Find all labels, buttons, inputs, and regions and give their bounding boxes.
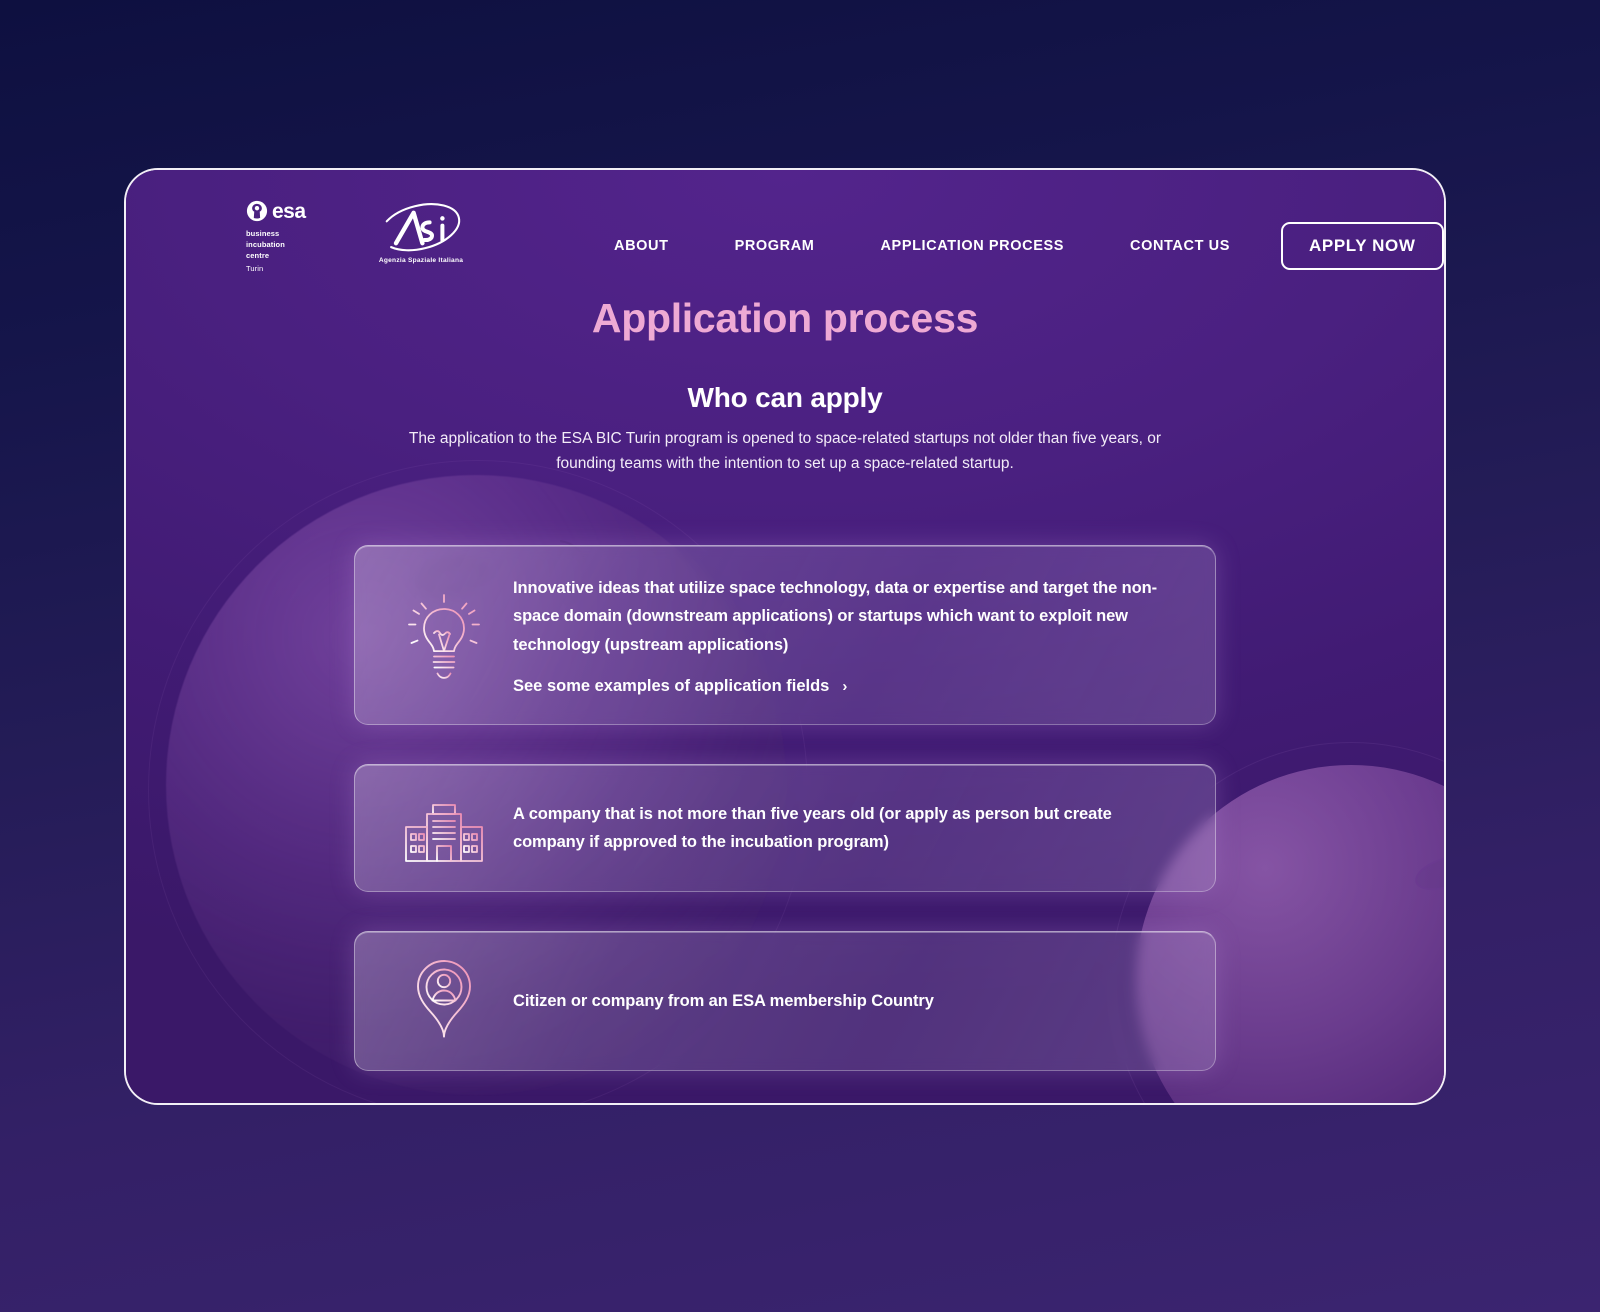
chevron-right-icon: › — [842, 679, 847, 694]
nav-item-program[interactable]: PROGRAM — [702, 238, 848, 254]
intro-paragraph: The application to the ESA BIC Turin pro… — [380, 426, 1190, 476]
site-header: esa business incubation centre Turin — [126, 170, 1444, 300]
esa-bic-logo[interactable]: esa business incubation centre Turin — [246, 200, 322, 275]
nav-item-contact-us[interactable]: CONTACT US — [1097, 238, 1263, 254]
page-background: esa business incubation centre Turin — [126, 170, 1444, 1103]
eligibility-card-innovative-ideas[interactable]: Innovative ideas that utilize space tech… — [354, 545, 1216, 725]
esa-globe-icon — [246, 200, 268, 222]
section-title: Who can apply — [126, 382, 1444, 414]
card-body: Citizen or company from an ESA membershi… — [503, 987, 1185, 1015]
apply-now-button[interactable]: APPLY NOW — [1281, 222, 1443, 270]
card-body: A company that is not more than five yea… — [503, 800, 1185, 857]
card-text: Innovative ideas that utilize space tech… — [513, 574, 1185, 659]
esa-wordmark: esa — [272, 201, 306, 222]
building-icon — [400, 791, 488, 865]
esa-sub-line-1: business — [246, 229, 279, 238]
asi-subtitle: Agenzia Spaziale Italiana — [372, 257, 470, 264]
card-link-label: See some examples of application fields — [513, 677, 829, 696]
nav-item-about[interactable]: ABOUT — [581, 238, 702, 254]
examples-of-application-fields-link[interactable]: See some examples of application fields … — [513, 677, 847, 696]
site-frame: esa business incubation centre Turin — [124, 168, 1446, 1105]
nav-item-application-process[interactable]: APPLICATION PROCESS — [847, 238, 1097, 254]
card-icon-wrap — [385, 791, 503, 865]
card-icon-wrap — [385, 589, 503, 681]
esa-sub-line-3: centre — [246, 251, 269, 260]
eligibility-card-esa-membership[interactable]: Citizen or company from an ESA membershi… — [354, 931, 1216, 1071]
location-person-icon — [411, 958, 477, 1044]
esa-subtitle: business incubation centre Turin — [246, 229, 322, 275]
esa-city: Turin — [246, 264, 322, 275]
eligibility-card-company-age[interactable]: A company that is not more than five yea… — [354, 764, 1216, 892]
asi-logo[interactable]: Agenzia Spaziale Italiana — [372, 200, 470, 264]
card-text: Citizen or company from an ESA membershi… — [513, 987, 1185, 1015]
card-icon-wrap — [385, 958, 503, 1044]
esa-sub-line-2: incubation — [246, 240, 285, 249]
page-title: Application process — [126, 295, 1444, 342]
asi-mark-icon — [372, 200, 468, 256]
card-text: A company that is not more than five yea… — [513, 800, 1185, 857]
main-navigation: ABOUT PROGRAM APPLICATION PROCESS CONTAC… — [581, 222, 1444, 270]
logo-group: esa business incubation centre Turin — [246, 200, 470, 275]
card-body: Innovative ideas that utilize space tech… — [503, 574, 1185, 696]
lightbulb-icon — [401, 589, 487, 681]
eligibility-card-list: Innovative ideas that utilize space tech… — [354, 545, 1216, 1071]
